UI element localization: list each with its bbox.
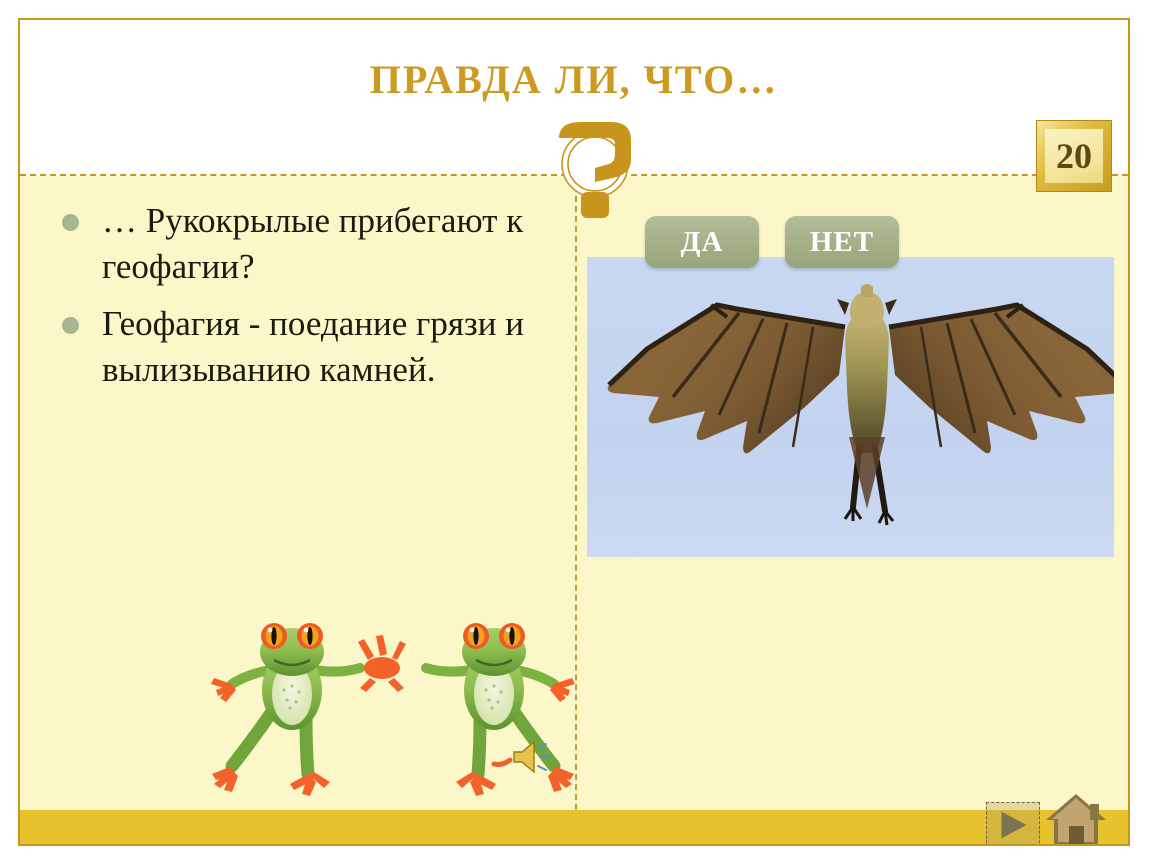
play-icon[interactable]	[986, 802, 1040, 846]
frog-right	[426, 623, 575, 796]
list-item: … Рукокрылые прибегают к геофагии?	[40, 198, 560, 289]
answer-yes-button[interactable]: ДА	[645, 216, 759, 268]
bullet-dot-icon	[62, 214, 79, 231]
frogs-illustration	[198, 598, 588, 808]
bottom-bar	[20, 810, 1128, 846]
answer-button-group: ДА НЕТ	[645, 216, 899, 268]
list-item-label: Геофагия - поедание грязи и вылизыванию …	[102, 304, 524, 389]
question-mark-icon	[539, 116, 651, 220]
badge-number: 20	[1056, 138, 1092, 174]
status-badge: 20	[1036, 120, 1112, 192]
list-item-label: … Рукокрылые прибегают к геофагии?	[102, 201, 523, 286]
bat-photo	[587, 257, 1114, 557]
home-icon[interactable]	[1044, 790, 1108, 846]
bullet-dot-icon	[62, 317, 79, 334]
page-title: ПРАВДА ЛИ, ЧТО…	[20, 56, 1128, 103]
answer-no-button[interactable]: НЕТ	[785, 216, 899, 268]
slide-canvas: ПРАВДА ЛИ, ЧТО… 20 … Рукокрылые прибегаю…	[18, 18, 1130, 846]
frog-left	[211, 623, 360, 796]
bullet-list: … Рукокрылые прибегают к геофагии? Геофа…	[40, 198, 560, 404]
speaker-icon	[494, 742, 550, 772]
list-item: Геофагия - поедание грязи и вылизыванию …	[40, 301, 560, 392]
frogs-high-five	[358, 635, 406, 692]
badge-inner: 20	[1045, 129, 1103, 183]
